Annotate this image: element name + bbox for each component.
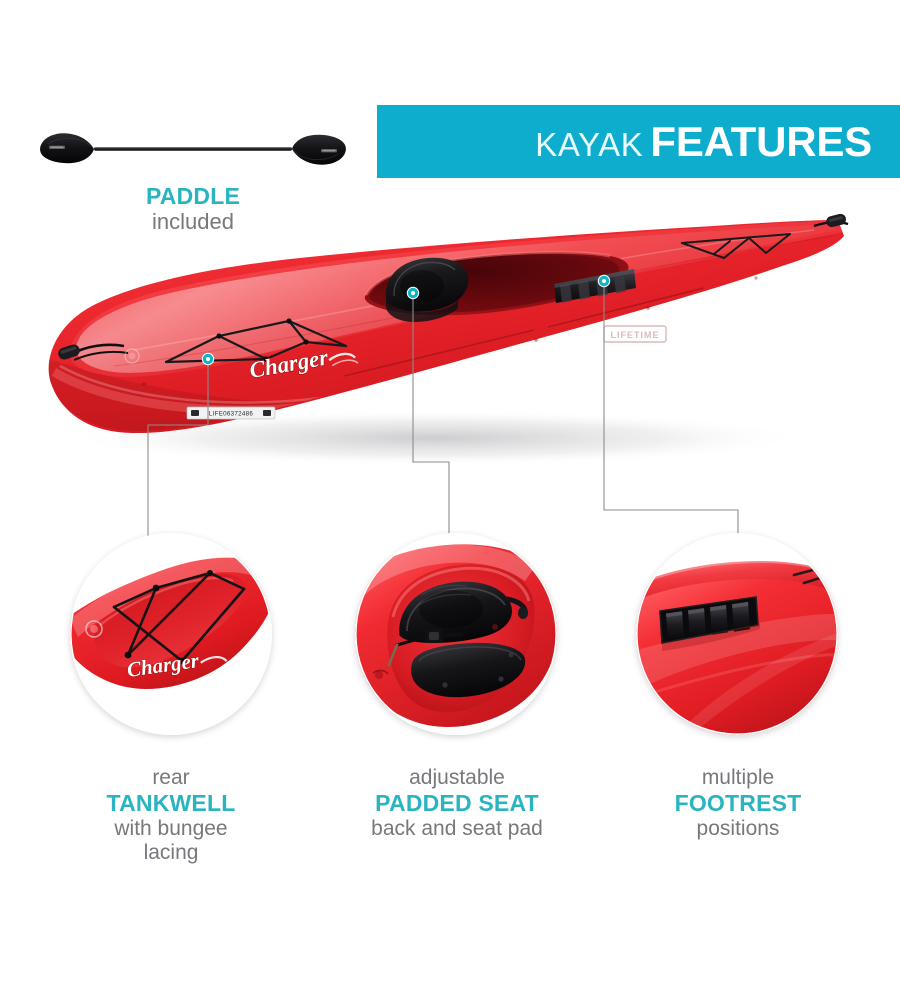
seat-caption-line-1: adjustable	[336, 766, 578, 790]
tankwell-caption-line-2: TANKWELL	[56, 790, 286, 817]
background-watermark	[0, 890, 900, 1000]
banner-title-bold: FEATURES	[650, 118, 872, 165]
footrest-caption-line-1: multiple	[622, 766, 854, 790]
padded-seat-caption: adjustable PADDED SEAT back and seat pad	[336, 766, 578, 841]
footrest-detail-photo	[636, 533, 838, 735]
tankwell-caption-line-3: with bungee	[56, 817, 286, 841]
kayak-side-view-icon: LIFE06372486 Charger LIFETIME	[14, 196, 886, 496]
banner-title-light: KAYAK	[535, 126, 643, 163]
kayak-hero-image: LIFE06372486 Charger LIFETIME	[14, 196, 886, 496]
padded-seat-detail-photo	[355, 533, 557, 735]
feature-infographic-page: KAYAKFEATURES	[0, 0, 900, 1000]
tankwell-caption-line-4: lacing	[56, 841, 286, 865]
svg-text:LIFE06372486: LIFE06372486	[209, 411, 253, 418]
paddle-image	[38, 126, 348, 172]
kayak-paddle-icon	[38, 126, 348, 172]
kayak-features-banner: KAYAKFEATURES	[377, 105, 900, 178]
footrest-caption-line-2: FOOTREST	[622, 790, 854, 817]
banner-title: KAYAKFEATURES	[535, 121, 872, 163]
tankwell-caption: rear TANKWELL with bungee lacing	[56, 766, 286, 866]
footrest-caption-line-3: positions	[622, 817, 854, 841]
tankwell-caption-line-1: rear	[56, 766, 286, 790]
lifetime-embossed-logo: LIFETIME	[604, 326, 666, 342]
footrest-caption: multiple FOOTREST positions	[622, 766, 854, 841]
svg-text:LIFETIME: LIFETIME	[611, 330, 660, 340]
rear-tankwell-detail-photo: Charger	[70, 533, 272, 735]
seat-caption-line-3: back and seat pad	[336, 817, 578, 841]
hull-id-sticker: LIFE06372486	[187, 407, 275, 419]
seat-caption-line-2: PADDED SEAT	[336, 790, 578, 817]
